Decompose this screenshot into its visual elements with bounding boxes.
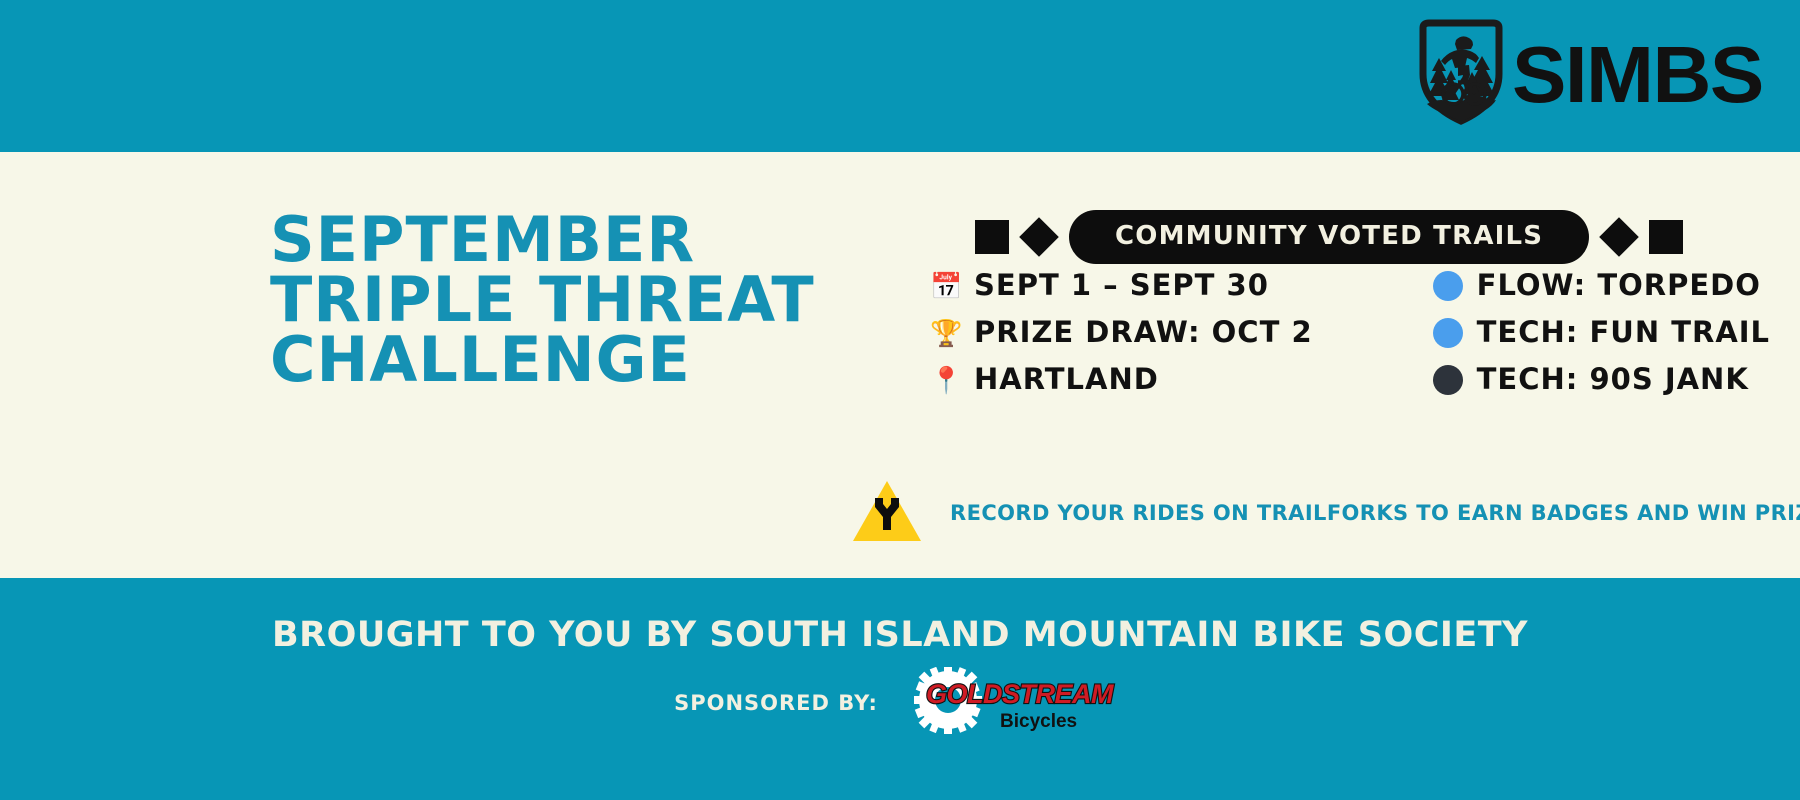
list-item: 📍 Hartland bbox=[930, 356, 1313, 403]
list-item: 📅 Sept 1 – Sept 30 bbox=[930, 262, 1313, 309]
svg-text:Bicycles: Bicycles bbox=[1000, 711, 1077, 732]
title-line-3: Challenge bbox=[270, 330, 870, 390]
detail-dates: Sept 1 – Sept 30 bbox=[974, 271, 1269, 300]
blue-circle-icon bbox=[1433, 271, 1463, 301]
status-badge: Community Voted Trails bbox=[1069, 210, 1589, 264]
event-details-list: 📅 Sept 1 – Sept 30 🏆 Prize Draw: Oct 2 📍… bbox=[930, 262, 1313, 403]
blue-circle-icon bbox=[1433, 318, 1463, 348]
square-icon bbox=[1649, 220, 1683, 254]
black-circle-icon bbox=[1433, 365, 1463, 395]
simbs-wordmark: SIMBS bbox=[1512, 35, 1763, 115]
simbs-shield-mountain-biker-icon bbox=[1418, 18, 1504, 131]
trophy-icon: 🏆 bbox=[930, 320, 960, 346]
map-pin-icon: 📍 bbox=[930, 367, 960, 393]
goldstream-chainring-icon: GOLDSTREAM Bicycles bbox=[896, 667, 1126, 739]
trails-list: Flow: Torpedo Tech: Fun Trail Tech: 90s … bbox=[1433, 262, 1770, 403]
diamond-icon bbox=[1599, 217, 1639, 257]
calendar-icon: 📅 bbox=[930, 273, 960, 299]
title-line-2: Triple Threat bbox=[270, 270, 870, 330]
sponsor-row: Sponsored by: bbox=[674, 667, 1126, 739]
list-item: Tech: 90s Jank bbox=[1433, 356, 1770, 403]
footer-credit: Brought to you by South Island Mountain … bbox=[272, 618, 1528, 653]
simbs-logo-lockup: SIMBS bbox=[1418, 18, 1758, 131]
trail-tech-fun-trail: Tech: Fun Trail bbox=[1477, 318, 1770, 347]
trailforks-note: Record your rides on Trailforks to earn … bbox=[852, 480, 1800, 547]
main-content-panel: September Triple Threat Challenge Commun… bbox=[0, 152, 1800, 578]
page-title: September Triple Threat Challenge bbox=[270, 210, 870, 390]
event-info-columns: 📅 Sept 1 – Sept 30 🏆 Prize Draw: Oct 2 📍… bbox=[930, 262, 1770, 403]
trail-tech-90s-jank: Tech: 90s Jank bbox=[1477, 365, 1749, 394]
trail-flow-torpedo: Flow: Torpedo bbox=[1477, 271, 1761, 300]
footer-band: Brought to you by South Island Mountain … bbox=[0, 578, 1800, 800]
promo-poster: SIMBS September Triple Threat Challenge … bbox=[0, 0, 1800, 800]
note-text: Record your rides on Trailforks to earn … bbox=[950, 503, 1800, 524]
header-band: SIMBS bbox=[0, 0, 1800, 152]
title-line-1: September bbox=[270, 210, 870, 270]
list-item: Flow: Torpedo bbox=[1433, 262, 1770, 309]
community-voted-trails-banner: Community Voted Trails bbox=[975, 210, 1683, 264]
svg-text:GOLDSTREAM: GOLDSTREAM bbox=[926, 679, 1114, 709]
detail-prize-draw: Prize Draw: Oct 2 bbox=[974, 318, 1313, 347]
sponsor-label: Sponsored by: bbox=[674, 693, 878, 714]
detail-location: Hartland bbox=[974, 365, 1159, 394]
diamond-icon bbox=[1019, 217, 1059, 257]
trail-fork-caution-icon bbox=[852, 480, 922, 547]
list-item: Tech: Fun Trail bbox=[1433, 309, 1770, 356]
list-item: 🏆 Prize Draw: Oct 2 bbox=[930, 309, 1313, 356]
square-icon bbox=[975, 220, 1009, 254]
